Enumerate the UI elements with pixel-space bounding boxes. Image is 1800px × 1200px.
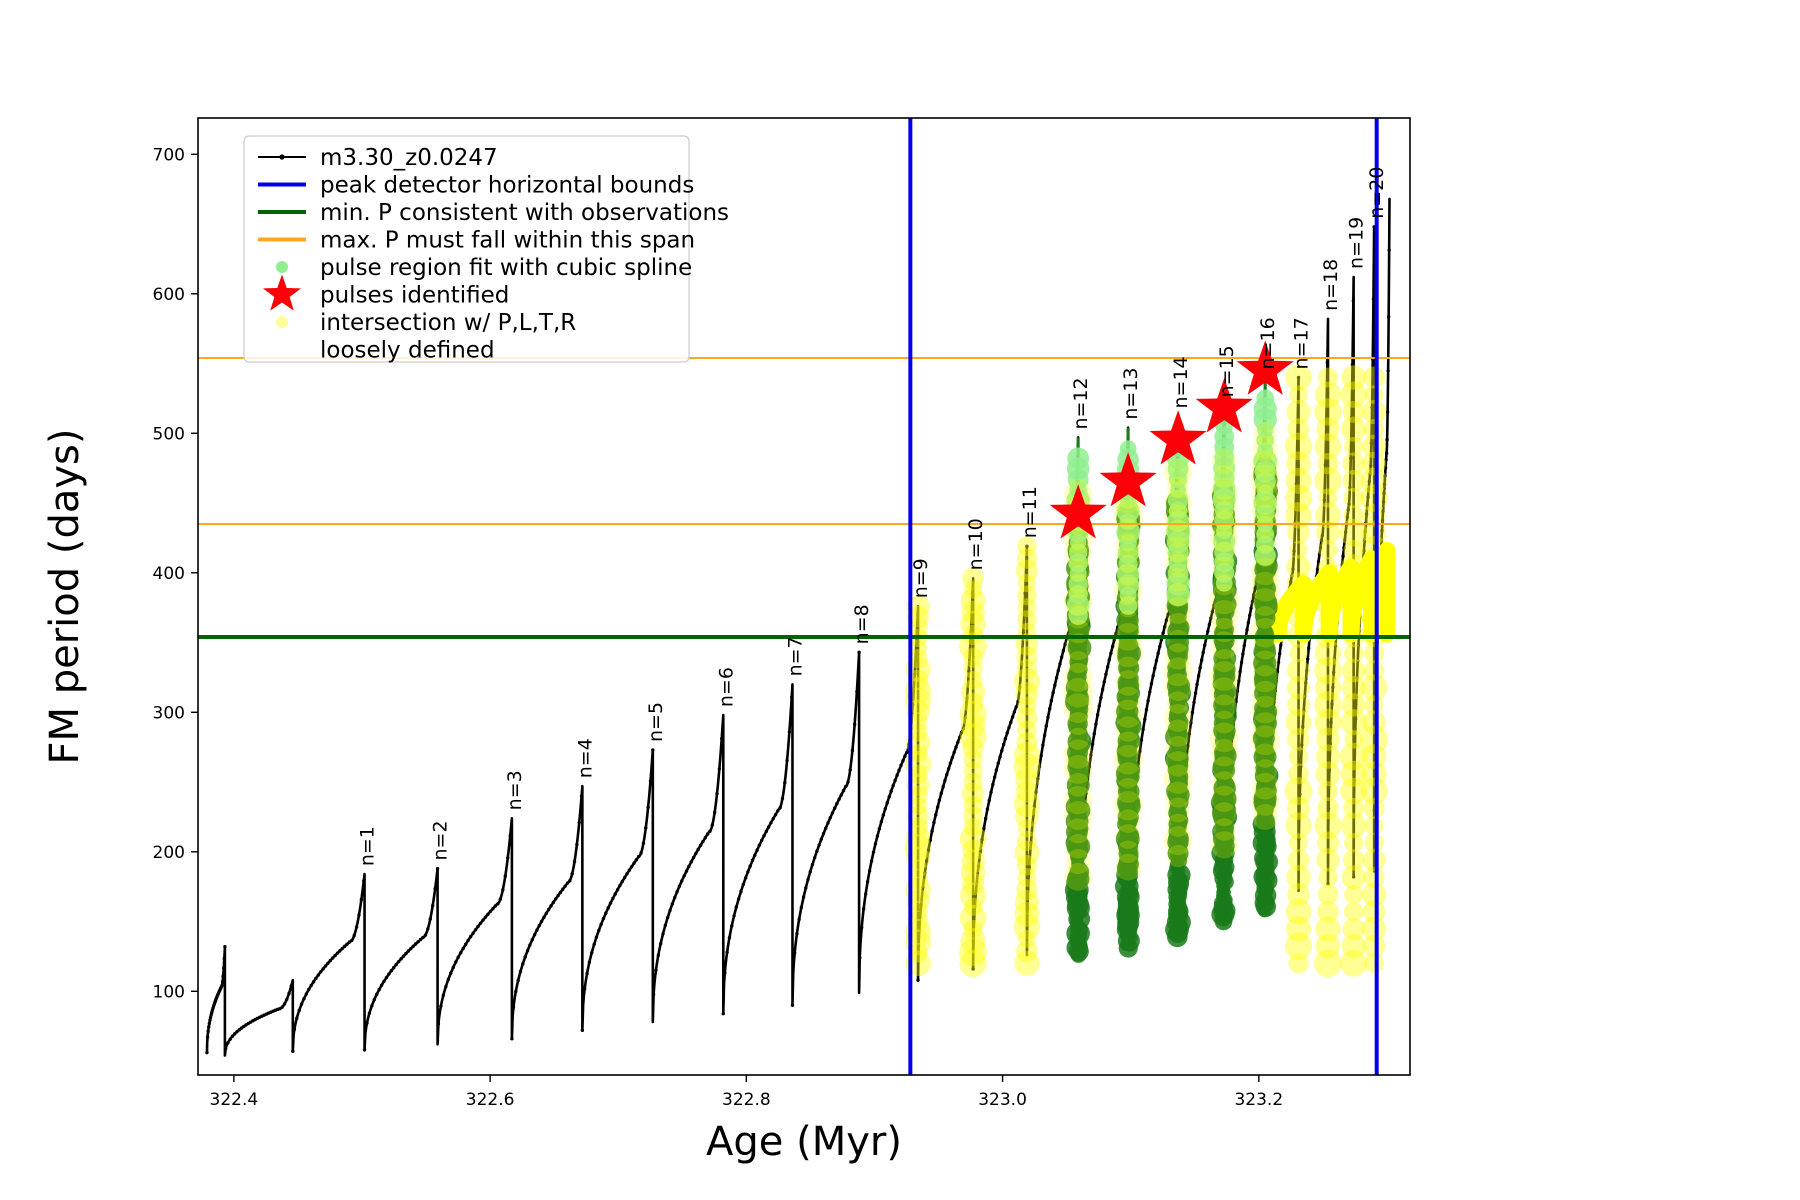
track-point bbox=[668, 909, 671, 912]
track-point bbox=[1043, 734, 1046, 737]
track-point bbox=[685, 869, 688, 872]
track-point bbox=[578, 821, 581, 824]
track-point bbox=[395, 963, 398, 966]
track-point bbox=[1106, 665, 1109, 668]
track-point bbox=[221, 974, 224, 977]
track-point bbox=[880, 820, 883, 823]
track-point bbox=[549, 904, 552, 907]
track-point bbox=[1151, 674, 1154, 677]
track-point bbox=[561, 888, 564, 891]
track-point bbox=[654, 968, 657, 971]
track-point bbox=[319, 970, 322, 973]
track-point bbox=[694, 852, 697, 855]
track-point bbox=[699, 844, 702, 847]
track-point bbox=[409, 947, 412, 950]
green-spline-columns bbox=[1063, 377, 1280, 962]
track-point bbox=[837, 797, 840, 800]
track-point bbox=[831, 811, 834, 814]
track-point bbox=[706, 832, 709, 835]
track-point bbox=[531, 938, 534, 941]
track-point bbox=[521, 962, 524, 965]
pulse-label-n13: n=13 bbox=[1120, 368, 1142, 420]
track-point bbox=[895, 774, 898, 777]
track-point bbox=[651, 748, 654, 751]
track-point bbox=[538, 924, 541, 927]
legend-label-2: min. P consistent with observations bbox=[320, 200, 729, 226]
track-point bbox=[1156, 652, 1159, 655]
x-tick-label: 322.4 bbox=[210, 1090, 259, 1110]
track-point bbox=[307, 988, 310, 991]
track-point bbox=[1141, 728, 1144, 731]
track-point bbox=[281, 1005, 284, 1008]
pulse-label-n2: n=2 bbox=[430, 820, 452, 860]
yellow-intersection-point bbox=[1318, 557, 1338, 577]
track-point bbox=[407, 949, 410, 952]
track-point bbox=[504, 874, 507, 877]
yellow-intersection-point bbox=[1289, 747, 1308, 766]
track-point bbox=[380, 984, 383, 987]
green-spline-point bbox=[1215, 913, 1233, 931]
track-point bbox=[444, 985, 447, 988]
track-point bbox=[226, 1041, 229, 1044]
track-point bbox=[1158, 645, 1161, 648]
track-point bbox=[1006, 731, 1009, 734]
track-point bbox=[793, 951, 796, 954]
track-point bbox=[402, 955, 405, 958]
track-point bbox=[1009, 720, 1012, 723]
track-point bbox=[864, 892, 867, 895]
track-point bbox=[575, 843, 578, 846]
track-point bbox=[471, 932, 474, 935]
track-point bbox=[621, 880, 624, 883]
track-point bbox=[368, 1011, 371, 1014]
track-point bbox=[687, 865, 690, 868]
track-point bbox=[737, 897, 740, 900]
pulse-label-n7: n=7 bbox=[784, 636, 806, 676]
track-point bbox=[728, 936, 731, 939]
track-point bbox=[618, 884, 621, 887]
track-point bbox=[556, 894, 559, 897]
track-point bbox=[580, 794, 583, 797]
track-point bbox=[995, 768, 998, 771]
track-point bbox=[542, 916, 545, 919]
track-point bbox=[208, 1022, 211, 1025]
track-point bbox=[1002, 743, 1005, 746]
track-point bbox=[449, 971, 452, 974]
track-point bbox=[783, 781, 786, 784]
track-point bbox=[528, 943, 531, 946]
pulse-label-n16: n=16 bbox=[1257, 317, 1279, 369]
track-point bbox=[602, 917, 605, 920]
track-point bbox=[849, 768, 852, 771]
track-point bbox=[1048, 707, 1051, 710]
x-tick-label: 323.2 bbox=[1234, 1090, 1283, 1110]
track-point bbox=[824, 826, 827, 829]
track-point bbox=[713, 811, 716, 814]
green-spline-point bbox=[1071, 947, 1087, 963]
track-point bbox=[205, 1051, 208, 1054]
track-point bbox=[1387, 248, 1390, 251]
track-point bbox=[853, 723, 856, 726]
track-point bbox=[365, 1021, 368, 1024]
track-point bbox=[433, 887, 436, 890]
track-point bbox=[940, 792, 943, 795]
track-point bbox=[862, 907, 865, 910]
track-point bbox=[357, 913, 360, 916]
green-spline-point bbox=[1167, 927, 1188, 948]
track-point bbox=[1041, 744, 1044, 747]
legend-label-6: intersection w/ P,L,T,R bbox=[320, 310, 576, 336]
track-point bbox=[817, 843, 820, 846]
track-point bbox=[1098, 704, 1101, 707]
track-point bbox=[457, 956, 460, 959]
track-point bbox=[1208, 623, 1211, 626]
track-point bbox=[459, 951, 462, 954]
track-point bbox=[742, 883, 745, 886]
track-point bbox=[800, 906, 803, 909]
track-point bbox=[949, 761, 952, 764]
track-point bbox=[533, 933, 536, 936]
pulse-label-n5: n=5 bbox=[645, 702, 667, 742]
track-point bbox=[657, 954, 660, 957]
track-point bbox=[614, 892, 617, 895]
track-point bbox=[352, 934, 355, 937]
track-point bbox=[1058, 662, 1061, 665]
y-tick-label: 500 bbox=[153, 424, 185, 444]
track-point bbox=[1241, 652, 1244, 655]
x-tick-label: 322.8 bbox=[722, 1090, 771, 1110]
track-point bbox=[785, 759, 788, 762]
track-point bbox=[882, 813, 885, 816]
track-point bbox=[461, 947, 464, 950]
yellow-intersection-point bbox=[1365, 816, 1384, 835]
track-point bbox=[581, 1029, 584, 1032]
track-point bbox=[519, 970, 522, 973]
track-point bbox=[1386, 410, 1389, 413]
track-point bbox=[390, 969, 393, 972]
track-point bbox=[559, 891, 562, 894]
track-point bbox=[1014, 705, 1017, 708]
track-point bbox=[986, 807, 989, 810]
track-point bbox=[997, 762, 1000, 765]
track-point bbox=[625, 872, 628, 875]
track-point bbox=[1004, 737, 1007, 740]
track-point bbox=[397, 960, 400, 963]
track-point bbox=[1372, 297, 1375, 300]
track-point bbox=[916, 978, 919, 981]
track-point bbox=[392, 966, 395, 969]
track-point bbox=[568, 879, 571, 882]
track-point bbox=[540, 920, 543, 923]
track-point bbox=[431, 904, 434, 907]
track-point bbox=[424, 933, 427, 936]
track-point bbox=[382, 980, 385, 983]
track-point bbox=[321, 967, 324, 970]
track-point bbox=[938, 798, 941, 801]
track-point bbox=[842, 789, 845, 792]
track-point bbox=[936, 806, 939, 809]
pulse-label-n6: n=6 bbox=[715, 667, 737, 707]
pulse-label-n18: n=18 bbox=[1320, 259, 1342, 311]
track-point bbox=[795, 932, 798, 935]
track-point bbox=[711, 823, 714, 826]
track-point bbox=[755, 848, 758, 851]
track-point bbox=[1051, 691, 1054, 694]
track-point bbox=[476, 925, 479, 928]
track-point bbox=[878, 827, 881, 830]
track-point bbox=[302, 997, 305, 1000]
track-point bbox=[479, 922, 482, 925]
track-point bbox=[1307, 646, 1310, 649]
track-point bbox=[293, 1028, 296, 1031]
track-point bbox=[1104, 673, 1107, 676]
track-point bbox=[454, 960, 457, 963]
track-point bbox=[305, 992, 308, 995]
track-point bbox=[573, 860, 576, 863]
track-point bbox=[1386, 369, 1389, 372]
track-point bbox=[1101, 688, 1104, 691]
track-point bbox=[501, 888, 504, 891]
track-point bbox=[514, 990, 517, 993]
track-point bbox=[1062, 649, 1065, 652]
track-point bbox=[426, 927, 429, 930]
track-point bbox=[1279, 644, 1282, 647]
track-point bbox=[1050, 699, 1053, 702]
yellow-intersection-point bbox=[1319, 868, 1338, 887]
track-point bbox=[1099, 696, 1102, 699]
track-point bbox=[489, 910, 492, 913]
track-point bbox=[1197, 674, 1200, 677]
track-point bbox=[206, 1035, 209, 1038]
track-point bbox=[744, 876, 747, 879]
track-point bbox=[790, 696, 793, 699]
track-point bbox=[630, 865, 633, 868]
legend-label-0: m3.30_z0.0247 bbox=[320, 145, 498, 171]
track-point bbox=[399, 957, 402, 960]
track-point bbox=[295, 1017, 298, 1020]
track-point bbox=[666, 916, 669, 919]
track-point bbox=[708, 830, 711, 833]
track-point bbox=[941, 785, 944, 788]
track-point bbox=[988, 799, 991, 802]
legend-label-4: pulse region fit with cubic spline bbox=[320, 255, 692, 281]
y-tick-label: 300 bbox=[153, 703, 185, 723]
track-point bbox=[223, 945, 226, 948]
track-point bbox=[673, 896, 676, 899]
track-point bbox=[893, 779, 896, 782]
track-point bbox=[222, 967, 225, 970]
track-point bbox=[1385, 438, 1388, 441]
track-point bbox=[874, 842, 877, 845]
track-point bbox=[1161, 631, 1164, 634]
legend-swatch-dot bbox=[276, 316, 288, 328]
track-point bbox=[1146, 699, 1149, 702]
track-point bbox=[735, 905, 738, 908]
track-point bbox=[377, 988, 380, 991]
green-spline-point bbox=[1258, 903, 1272, 917]
track-point bbox=[870, 859, 873, 862]
track-point bbox=[437, 1022, 440, 1025]
track-point bbox=[300, 1002, 303, 1005]
track-point bbox=[583, 987, 586, 990]
track-point bbox=[722, 1012, 725, 1015]
track-point bbox=[317, 973, 320, 976]
track-point bbox=[715, 792, 718, 795]
track-point bbox=[290, 984, 293, 987]
track-point bbox=[829, 816, 832, 819]
track-point bbox=[984, 817, 987, 820]
track-point bbox=[609, 901, 612, 904]
track-point bbox=[1091, 742, 1094, 745]
track-point bbox=[1143, 718, 1146, 721]
track-point bbox=[846, 780, 849, 783]
track-point bbox=[993, 775, 996, 778]
track-point bbox=[566, 881, 569, 884]
y-tick-label: 100 bbox=[153, 982, 185, 1002]
track-point bbox=[616, 888, 619, 891]
track-point bbox=[1306, 657, 1309, 660]
track-point bbox=[1195, 683, 1198, 686]
track-point bbox=[903, 754, 906, 757]
track-point bbox=[680, 879, 683, 882]
track-point bbox=[835, 802, 838, 805]
track-point bbox=[329, 959, 332, 962]
track-point bbox=[778, 806, 781, 809]
track-point bbox=[510, 1037, 513, 1040]
track-point bbox=[1011, 715, 1014, 718]
track-point bbox=[899, 764, 902, 767]
track-point bbox=[678, 885, 681, 888]
track-point bbox=[606, 906, 609, 909]
track-point bbox=[760, 839, 763, 842]
track-point bbox=[1060, 656, 1063, 659]
track-point bbox=[897, 769, 900, 772]
track-point bbox=[889, 790, 892, 793]
track-point bbox=[776, 809, 779, 812]
track-point bbox=[888, 795, 891, 798]
track-point bbox=[748, 864, 751, 867]
track-point bbox=[1111, 645, 1114, 648]
track-point bbox=[1096, 713, 1099, 716]
track-point bbox=[1150, 682, 1153, 685]
y-tick-label: 200 bbox=[153, 843, 185, 863]
track-point bbox=[772, 817, 775, 820]
pulse-label-n15: n=15 bbox=[1216, 345, 1238, 397]
track-point bbox=[466, 939, 469, 942]
track-point bbox=[524, 955, 527, 958]
track-point bbox=[516, 979, 519, 982]
track-point bbox=[659, 942, 662, 945]
track-point bbox=[802, 896, 805, 899]
track-point bbox=[1000, 749, 1003, 752]
track-point bbox=[595, 935, 598, 938]
track-point bbox=[797, 918, 800, 921]
track-point bbox=[1192, 701, 1195, 704]
track-point bbox=[1053, 683, 1056, 686]
track-point bbox=[590, 951, 593, 954]
track-point bbox=[611, 897, 614, 900]
pulse-label-n12: n=12 bbox=[1070, 377, 1092, 429]
track-point bbox=[891, 784, 894, 787]
yellow-intersection-columns bbox=[904, 364, 1388, 977]
track-point bbox=[1240, 661, 1243, 664]
track-point bbox=[1387, 315, 1390, 318]
track-point bbox=[632, 861, 635, 864]
track-point bbox=[314, 977, 317, 980]
track-point bbox=[730, 924, 733, 927]
track-point bbox=[635, 858, 638, 861]
track-point bbox=[1200, 658, 1203, 661]
track-point bbox=[804, 886, 807, 889]
track-point bbox=[331, 956, 334, 959]
track-point bbox=[491, 907, 494, 910]
track-point bbox=[751, 859, 754, 862]
track-point bbox=[934, 813, 937, 816]
track-point bbox=[1039, 754, 1042, 757]
track-point bbox=[767, 825, 770, 828]
track-point bbox=[1055, 676, 1058, 679]
track-point bbox=[597, 929, 600, 932]
pulse-label-n3: n=3 bbox=[504, 770, 526, 810]
track-point bbox=[646, 805, 649, 808]
yellow-intersection-point bbox=[1364, 798, 1385, 819]
track-point bbox=[439, 1004, 442, 1007]
track-point bbox=[758, 843, 761, 846]
legend-label-1: peak detector horizontal bounds bbox=[320, 173, 694, 199]
track-point bbox=[509, 834, 512, 837]
track-point bbox=[652, 993, 655, 996]
track-point bbox=[1155, 659, 1158, 662]
track-point bbox=[1202, 651, 1205, 654]
track-point bbox=[1198, 666, 1201, 669]
track-point bbox=[474, 928, 477, 931]
pulse-label-n1: n=1 bbox=[357, 826, 379, 866]
track-point bbox=[833, 807, 836, 810]
yellow-intersection-point bbox=[1014, 951, 1039, 976]
track-point bbox=[206, 1029, 209, 1032]
y-tick-label: 700 bbox=[153, 145, 185, 165]
track-point bbox=[554, 897, 557, 900]
track-point bbox=[604, 911, 607, 914]
pulse-label-n9: n=9 bbox=[910, 558, 932, 598]
track-point bbox=[675, 890, 678, 893]
track-point bbox=[469, 935, 472, 938]
track-point bbox=[769, 821, 772, 824]
track-point bbox=[496, 902, 499, 905]
track-point bbox=[943, 779, 946, 782]
track-point bbox=[868, 869, 871, 872]
track-point bbox=[333, 954, 336, 957]
pulse-label-n20: n=20 bbox=[1366, 167, 1388, 219]
track-point bbox=[872, 850, 875, 853]
green-spline-point bbox=[1119, 938, 1138, 957]
track-point bbox=[375, 993, 378, 996]
track-point bbox=[563, 884, 566, 887]
track-point bbox=[291, 1050, 294, 1053]
track-point bbox=[283, 1002, 286, 1005]
track-point bbox=[481, 918, 484, 921]
plot-svg[interactable]: n=1n=2n=3n=4n=5n=6n=7n=8n=9n=10n=11n=12n… bbox=[0, 0, 1800, 1200]
track-point bbox=[989, 791, 992, 794]
yellow-intersection-point bbox=[1344, 885, 1363, 904]
track-point bbox=[1145, 708, 1148, 711]
track-point bbox=[1238, 670, 1241, 673]
track-point bbox=[592, 943, 595, 946]
track-point bbox=[753, 853, 756, 856]
track-point bbox=[860, 926, 863, 929]
track-point bbox=[671, 902, 674, 905]
track-point bbox=[855, 690, 858, 693]
